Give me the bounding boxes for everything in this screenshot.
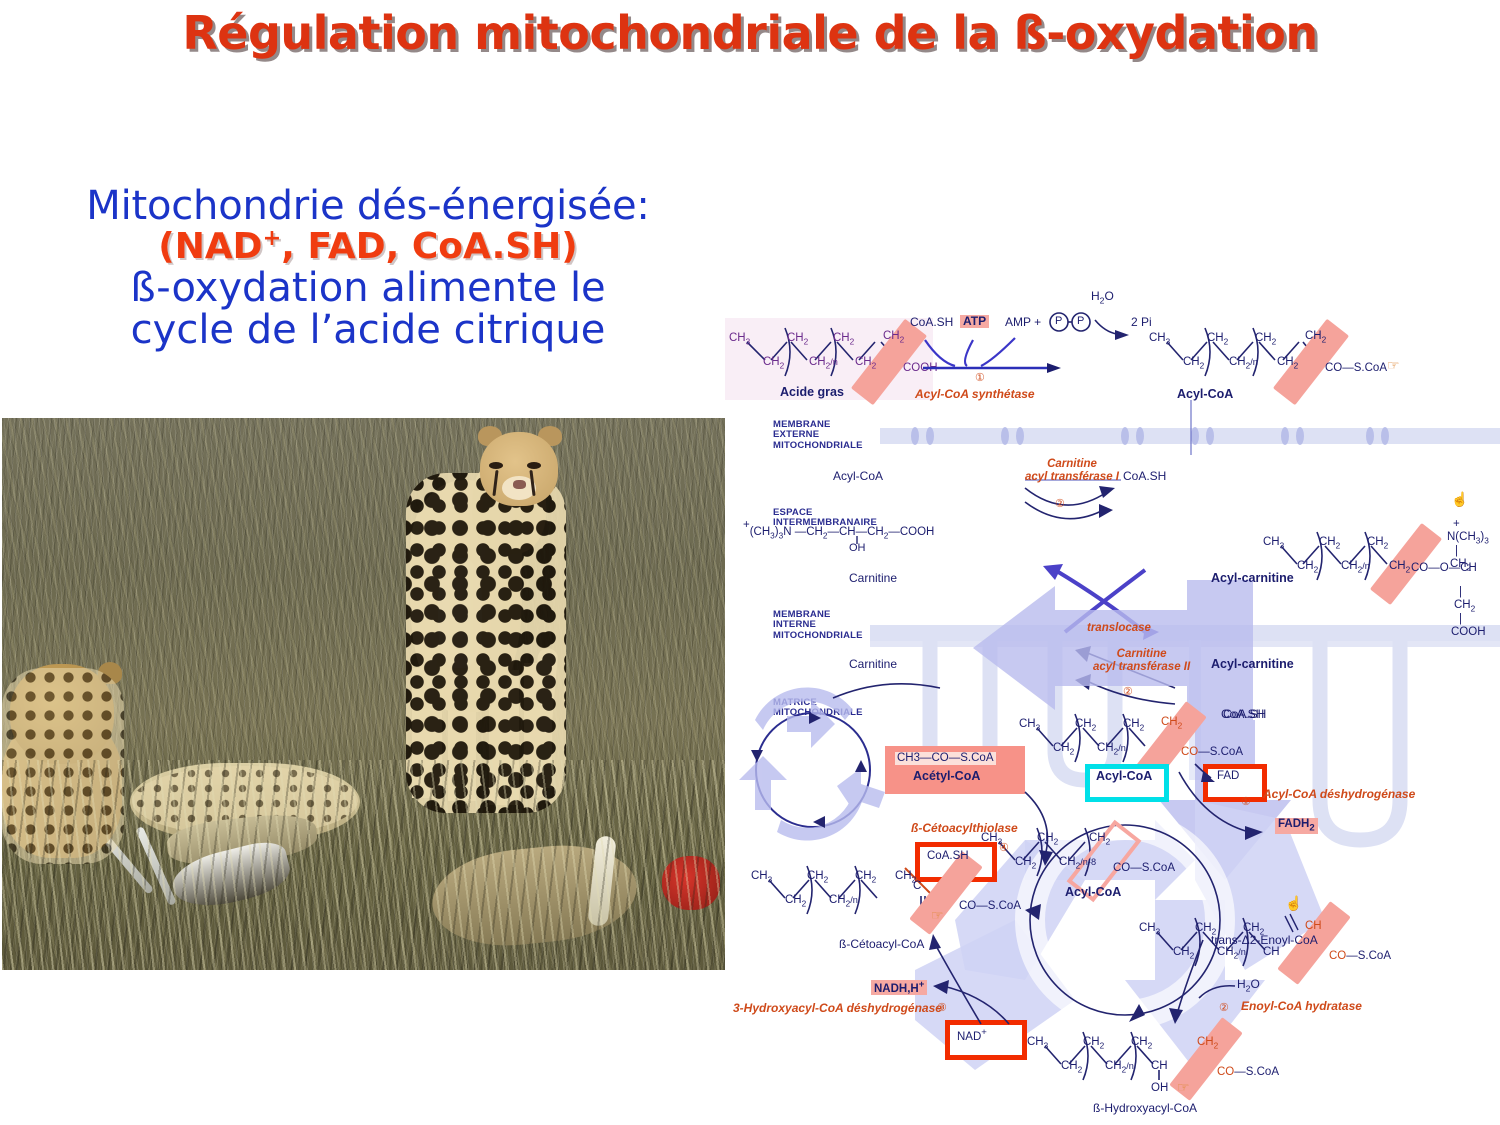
beta-oxidation-diagram: MEMBRANE EXTERNE MITOCHONDRIALE ESPACE I… bbox=[725, 280, 1500, 1125]
step-number-4: ④ bbox=[999, 842, 1009, 854]
short-ch2-4: CH2 bbox=[1089, 832, 1110, 846]
cheetah-eye-right bbox=[527, 462, 541, 469]
left-text-block: Mitochondrie dés-énergisée: (NAD+, FAD, … bbox=[18, 185, 718, 351]
acyl-coa-short-label: Acyl-CoA bbox=[1065, 886, 1121, 900]
fad-label: FAD bbox=[1217, 770, 1239, 783]
cheetah-eye-left bbox=[489, 462, 503, 469]
coash-label-4: CoA.SH bbox=[927, 850, 969, 863]
text-line-3: ß-oxydation alimente le bbox=[18, 267, 718, 309]
short-ch2-3: CH2/n-8 bbox=[1059, 856, 1096, 870]
text-line-1: Mitochondrie dés-énergisée: bbox=[18, 185, 718, 227]
acylcoa-bonds-short bbox=[725, 280, 1500, 1125]
nad-label: NAD+ bbox=[957, 1028, 987, 1043]
cheetah-photo bbox=[2, 418, 725, 970]
short-ch2-1: CH2 bbox=[1015, 856, 1036, 870]
cofactor-line: (NAD+, FAD, CoA.SH) bbox=[18, 227, 718, 266]
page-title: Régulation mitochondriale de la ß-oxydat… bbox=[0, 6, 1500, 60]
cheetah-nose bbox=[513, 480, 526, 489]
short-ch2-2: CH2 bbox=[1037, 832, 1058, 846]
acyl-coa-box-label: Acyl-CoA bbox=[1096, 770, 1152, 784]
coash-label-5: CoA.SH bbox=[1223, 708, 1266, 721]
short-thioester: CO—S.CoA bbox=[1113, 862, 1175, 875]
foreground-grass bbox=[2, 760, 725, 970]
text-line-4: cycle de l’acide citrique bbox=[18, 309, 718, 351]
